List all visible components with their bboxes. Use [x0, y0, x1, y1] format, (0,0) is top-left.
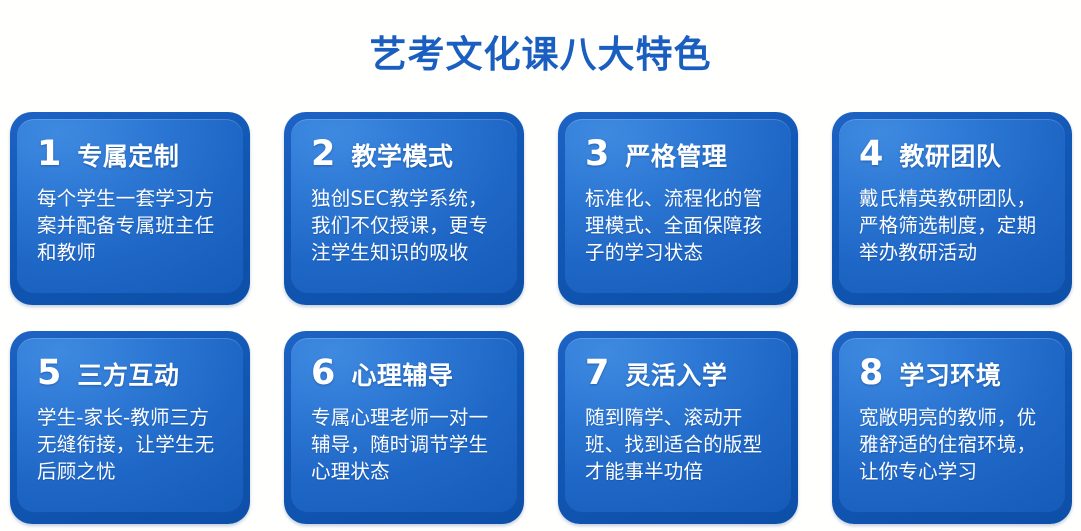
feature-card-5[interactable]: 5 三方互动 学生-家长-教师三方无缝衔接，让学生无后顾之忧 — [10, 331, 250, 524]
feature-card-3-body: 标准化、流程化的管理模式、全面保障孩子的学习状态 — [585, 185, 774, 266]
feature-card-2-number: 2 — [311, 135, 335, 173]
feature-card-7-header: 7 灵活入学 — [585, 354, 774, 395]
feature-card-8-header: 8 学习环境 — [859, 354, 1048, 395]
feature-card-3-inner: 3 严格管理 标准化、流程化的管理模式、全面保障孩子的学习状态 — [565, 119, 791, 293]
feature-card-6-header: 6 心理辅导 — [311, 354, 500, 395]
feature-card-5-inner: 5 三方互动 学生-家长-教师三方无缝衔接，让学生无后顾之忧 — [17, 338, 243, 512]
feature-card-1-inner: 1 专属定制 每个学生一套学习方案并配备专属班主任和教师 — [17, 119, 243, 293]
feature-card-1-body: 每个学生一套学习方案并配备专属班主任和教师 — [37, 185, 226, 266]
feature-card-3-header: 3 严格管理 — [585, 135, 774, 176]
feature-card-2[interactable]: 2 教学模式 独创SEC教学系统，我们不仅授课，更专注学生知识的吸收 — [284, 112, 524, 305]
feature-card-8-number: 8 — [859, 354, 883, 392]
feature-card-1-number: 1 — [37, 135, 61, 173]
feature-card-4-inner: 4 教研团队 戴氏精英教研团队，严格筛选制度，定期举办教研活动 — [839, 119, 1065, 293]
feature-card-4[interactable]: 4 教研团队 戴氏精英教研团队，严格筛选制度，定期举办教研活动 — [832, 112, 1072, 305]
feature-card-5-header: 5 三方互动 — [37, 354, 226, 395]
feature-card-8-title: 学习环境 — [899, 357, 1001, 395]
feature-card-3[interactable]: 3 严格管理 标准化、流程化的管理模式、全面保障孩子的学习状态 — [558, 112, 798, 305]
feature-card-7[interactable]: 7 灵活入学 随到隋学、滚动开班、找到适合的版型才能事半功倍 — [558, 331, 798, 524]
feature-card-5-body: 学生-家长-教师三方无缝衔接，让学生无后顾之忧 — [37, 404, 226, 485]
feature-card-1-title: 专属定制 — [77, 138, 179, 176]
feature-card-2-inner: 2 教学模式 独创SEC教学系统，我们不仅授课，更专注学生知识的吸收 — [291, 119, 517, 293]
feature-card-7-number: 7 — [585, 354, 609, 392]
feature-card-8-inner: 8 学习环境 宽敞明亮的教师，优雅舒适的住宿环境，让你专心学习 — [839, 338, 1065, 512]
feature-card-8[interactable]: 8 学习环境 宽敞明亮的教师，优雅舒适的住宿环境，让你专心学习 — [832, 331, 1072, 524]
feature-card-4-number: 4 — [859, 135, 883, 173]
feature-card-7-inner: 7 灵活入学 随到隋学、滚动开班、找到适合的版型才能事半功倍 — [565, 338, 791, 512]
feature-card-5-number: 5 — [37, 354, 61, 392]
feature-card-8-body: 宽敞明亮的教师，优雅舒适的住宿环境，让你专心学习 — [859, 404, 1048, 485]
feature-card-2-header: 2 教学模式 — [311, 135, 500, 176]
page-title: 艺考文化课八大特色 — [0, 33, 1081, 77]
feature-card-6[interactable]: 6 心理辅导 专属心理老师一对一辅导，随时调节学生心理状态 — [284, 331, 524, 524]
promo-graphic: 艺考文化课八大特色 1 专属定制 每个学生一套学习方案并配备专属班主任和教师 2… — [0, 0, 1081, 531]
feature-card-grid: 1 专属定制 每个学生一套学习方案并配备专属班主任和教师 2 教学模式 独创SE… — [10, 112, 1072, 524]
feature-card-6-inner: 6 心理辅导 专属心理老师一对一辅导，随时调节学生心理状态 — [291, 338, 517, 512]
feature-card-6-title: 心理辅导 — [351, 357, 453, 395]
feature-card-1[interactable]: 1 专属定制 每个学生一套学习方案并配备专属班主任和教师 — [10, 112, 250, 305]
feature-card-7-title: 灵活入学 — [625, 357, 727, 395]
feature-card-7-body: 随到隋学、滚动开班、找到适合的版型才能事半功倍 — [585, 404, 774, 485]
feature-card-2-body: 独创SEC教学系统，我们不仅授课，更专注学生知识的吸收 — [311, 185, 500, 266]
feature-card-4-header: 4 教研团队 — [859, 135, 1048, 176]
feature-card-1-header: 1 专属定制 — [37, 135, 226, 176]
feature-card-6-body: 专属心理老师一对一辅导，随时调节学生心理状态 — [311, 404, 500, 485]
feature-card-6-number: 6 — [311, 354, 335, 392]
feature-card-2-title: 教学模式 — [351, 138, 453, 176]
feature-card-3-number: 3 — [585, 135, 609, 173]
feature-card-5-title: 三方互动 — [77, 357, 179, 395]
feature-card-4-body: 戴氏精英教研团队，严格筛选制度，定期举办教研活动 — [859, 185, 1048, 266]
feature-card-3-title: 严格管理 — [625, 138, 727, 176]
feature-card-4-title: 教研团队 — [899, 138, 1001, 176]
